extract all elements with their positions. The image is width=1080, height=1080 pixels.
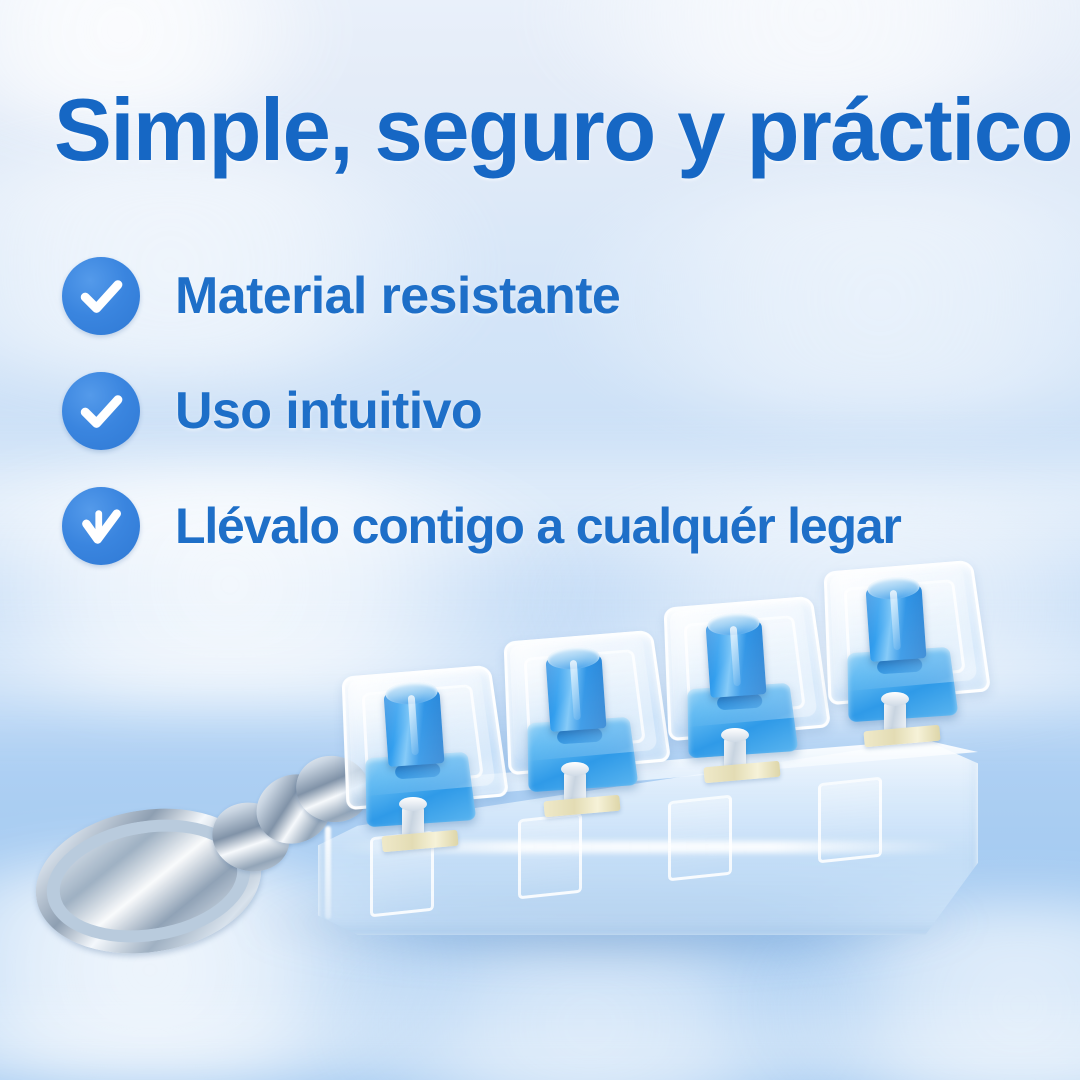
product-image xyxy=(0,560,1080,1020)
blue-switch-stem xyxy=(383,689,444,767)
blue-switch-stem xyxy=(545,654,606,732)
switch-leaf xyxy=(381,830,458,853)
check-icon xyxy=(62,372,140,450)
feature-label: Uso intuitivo xyxy=(175,381,482,441)
switch-leaf xyxy=(703,761,780,784)
list-item: Uso intuitivo xyxy=(62,365,1042,457)
switch-unit xyxy=(812,560,990,770)
feature-label: Material resistante xyxy=(175,266,620,326)
switch-unit xyxy=(492,630,670,840)
check-icon xyxy=(62,257,140,335)
check-down-icon xyxy=(62,487,140,565)
promo-poster: Simple, seguro y práctico Material resis… xyxy=(0,0,1080,1080)
feature-list: Material resistante Uso intuitivo Lléval… xyxy=(62,250,1042,595)
switch-unit xyxy=(652,596,830,806)
blue-switch-stem xyxy=(865,584,926,662)
switch-leaf xyxy=(863,725,940,748)
list-item: Material resistante xyxy=(62,250,1042,342)
base-rib xyxy=(668,795,732,882)
blue-switch-stem xyxy=(705,620,766,698)
feature-label: Llévalo contigo a cualquér legar xyxy=(175,497,901,555)
page-title: Simple, seguro y práctico xyxy=(54,86,1072,174)
list-item: Llévalo contigo a cualquér legar xyxy=(62,480,1042,572)
switch-leaf xyxy=(543,795,620,818)
switch-unit xyxy=(330,665,508,875)
